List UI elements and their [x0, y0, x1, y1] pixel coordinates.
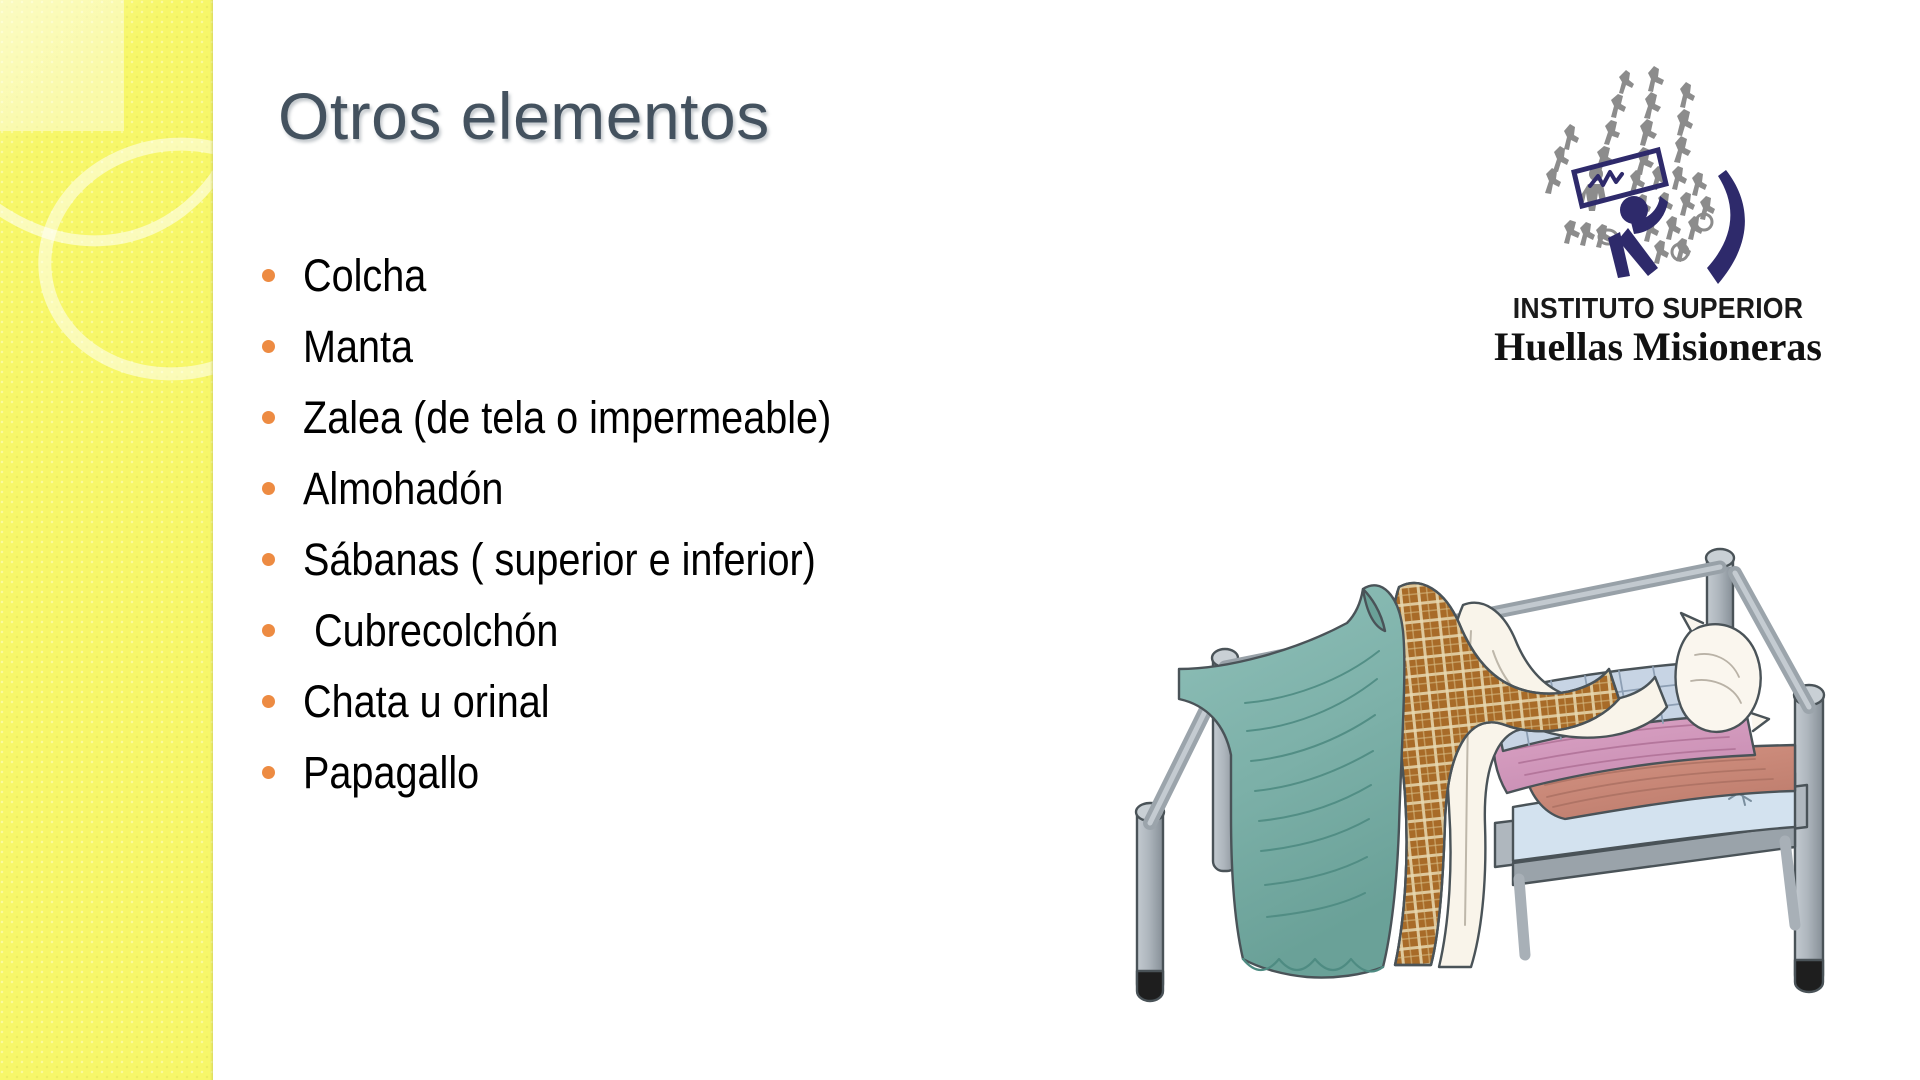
decorative-sidebar [0, 0, 213, 1080]
list-item: Colcha [262, 240, 1082, 311]
list-item-label: Chata u orinal [303, 679, 550, 724]
list-item-label: Colcha [303, 253, 426, 298]
list-item: Sábanas ( superior e inferior) [262, 524, 1082, 595]
pillow [1676, 624, 1761, 732]
page-title: Otros elementos [278, 78, 770, 154]
bullet-dot-icon [262, 624, 275, 637]
handprint-icon [1508, 62, 1798, 297]
list-item: Manta [262, 311, 1082, 382]
bed-post-front-right [1794, 685, 1824, 992]
bullet-list: Colcha Manta Zalea (de tela o impermeabl… [262, 240, 1082, 808]
bed-post-front-left [1136, 803, 1164, 1001]
bullet-dot-icon [262, 553, 275, 566]
sidebar-edge [210, 0, 213, 1080]
bullet-dot-icon [262, 695, 275, 708]
bullet-dot-icon [262, 340, 275, 353]
list-item: Papagallo [262, 737, 1082, 808]
slide-canvas: Otros elementos Colcha Manta Zalea (de t… [0, 0, 1920, 1080]
list-item: Chata u orinal [262, 666, 1082, 737]
bullet-dot-icon [262, 766, 275, 779]
list-item-label: Manta [303, 324, 413, 369]
bullet-dot-icon [262, 482, 275, 495]
list-item: Zalea (de tela o impermeable) [262, 382, 1082, 453]
list-item: Cubrecolchón [262, 595, 1082, 666]
list-item-label: Zalea (de tela o impermeable) [303, 395, 831, 440]
institution-logo: INSTITUTO SUPERIOR Huellas Misioneras [1458, 62, 1858, 362]
list-item-label: Cubrecolchón [303, 608, 558, 653]
list-item: Almohadón [262, 453, 1082, 524]
hospital-bed-illustration [1095, 455, 1895, 1015]
bullet-dot-icon [262, 269, 275, 282]
list-item-label: Almohadón [303, 466, 503, 511]
list-item-label: Sábanas ( superior e inferior) [303, 537, 816, 582]
bullet-dot-icon [262, 411, 275, 424]
list-item-label: Papagallo [303, 750, 479, 795]
logo-line-1: INSTITUTO SUPERIOR [1474, 294, 1842, 325]
logo-wordmark: INSTITUTO SUPERIOR Huellas Misioneras [1458, 294, 1858, 368]
logo-line-2: Huellas Misioneras [1458, 326, 1858, 368]
